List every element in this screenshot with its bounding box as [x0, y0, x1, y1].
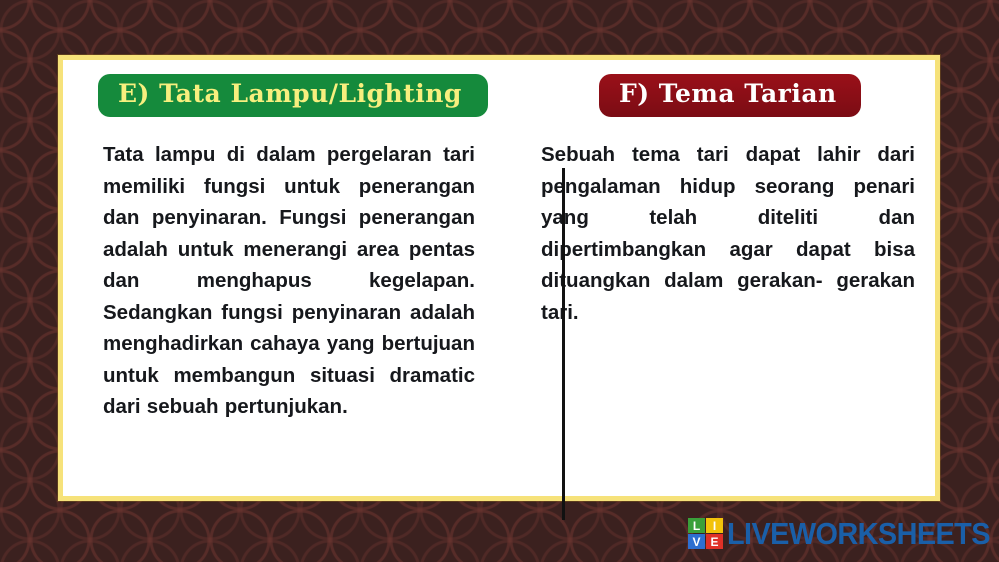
column-divider	[562, 168, 565, 520]
column-right: F) Tema Tarian Sebuah tema tari dapat la…	[507, 60, 945, 496]
logo-tile-i: I	[706, 518, 723, 533]
section-header-badge-f: F) Tema Tarian	[599, 74, 861, 117]
liveworksheets-logo: L I V E LIVEWORKSHEETS	[688, 518, 999, 549]
logo-tile-l: L	[688, 518, 705, 533]
section-body-text-f: Sebuah tema tari dapat lahir dari pengal…	[541, 139, 915, 328]
liveworksheets-wordmark: LIVEWORKSHEETS	[727, 518, 990, 549]
logo-tile-e: E	[706, 534, 723, 549]
worksheet-page: E) Tata Lampu/Lighting Tata lampu di dal…	[0, 0, 999, 562]
liveworksheets-logo-tiles: L I V E	[688, 518, 723, 549]
section-body-text-e: Tata lampu di dalam pergelaran tari memi…	[103, 139, 475, 423]
column-left: E) Tata Lampu/Lighting Tata lampu di dal…	[63, 60, 507, 496]
two-column-layout: E) Tata Lampu/Lighting Tata lampu di dal…	[63, 60, 935, 496]
logo-tile-v: V	[688, 534, 705, 549]
worksheet-card: E) Tata Lampu/Lighting Tata lampu di dal…	[58, 55, 940, 501]
section-header-badge-e: E) Tata Lampu/Lighting	[98, 74, 488, 117]
